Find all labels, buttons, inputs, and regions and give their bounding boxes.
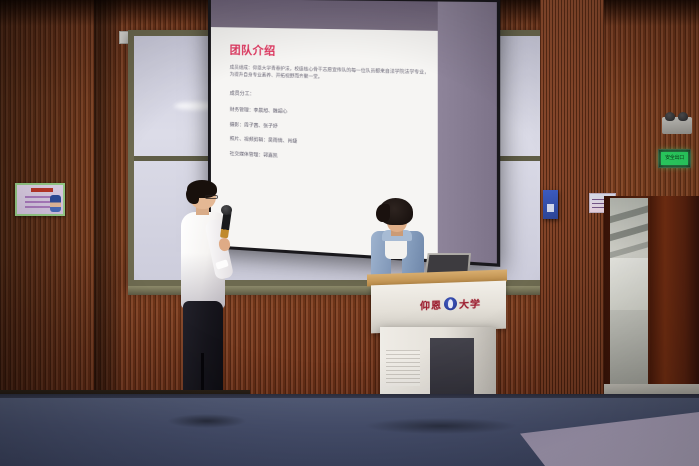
eyeglasses-icon bbox=[205, 195, 218, 199]
poster-title-bar bbox=[31, 188, 53, 192]
slide-role-item: 社交媒体管理：郭嘉凯 bbox=[230, 150, 429, 166]
slide-title: 团队介绍 bbox=[230, 41, 429, 62]
slide-role-item: 财务管理：李晨旭、魏韶心 bbox=[230, 106, 429, 120]
university-name-left: 仰恩 bbox=[420, 296, 442, 312]
university-emblem-icon bbox=[444, 297, 457, 310]
left-poster bbox=[15, 183, 65, 216]
stair-tread bbox=[610, 204, 648, 224]
exit-sign-label: 安全出口 bbox=[661, 152, 688, 165]
stair-tread bbox=[610, 222, 648, 242]
open-door-leaf[interactable] bbox=[650, 196, 699, 400]
slide-role-item: 摄影：周子茜、张子妤 bbox=[230, 121, 429, 136]
microphone-capsule-icon bbox=[221, 205, 232, 215]
podium-vent-grille bbox=[386, 350, 420, 386]
university-name-right: 大学 bbox=[459, 295, 481, 311]
standing-presenter bbox=[176, 183, 234, 423]
slide-paragraph: 成员组成：仰恩大学青春护法，校级核心骨干志愿宣传队的每一位队员都来自法学院法学专… bbox=[230, 64, 429, 84]
hair-front bbox=[376, 204, 390, 222]
stairwell-light bbox=[610, 258, 648, 310]
slide-role-item: 照片、视频剪辑：吴雨情、肖婕 bbox=[230, 135, 429, 150]
podium-shadow bbox=[366, 418, 516, 434]
poster-character-graphic bbox=[50, 195, 61, 212]
poster-text-lines bbox=[25, 196, 53, 210]
exit-sign: 安全出口 bbox=[658, 149, 691, 168]
blue-wall-box bbox=[543, 190, 558, 219]
slide-subheading: 成员分工： bbox=[230, 90, 429, 103]
hand bbox=[218, 237, 231, 252]
projection-screen: 团队介绍 成员组成：仰恩大学青春护法，校级核心骨干志愿宣传队的每一位队员都来自法… bbox=[208, 0, 500, 267]
stairwell-opening bbox=[610, 198, 648, 384]
podium-university-logo: 仰恩 大学 bbox=[420, 293, 496, 314]
presenter-shadow bbox=[168, 414, 246, 428]
stair-tread bbox=[610, 240, 648, 259]
slide-right-band bbox=[438, 1, 497, 263]
presentation-slide: 团队介绍 成员组成：仰恩大学青春护法，校级核心骨干志愿宣传队的每一位队员都来自法… bbox=[211, 0, 497, 263]
lecture-hall-scene: 安全出口 团队介绍 成员组成：仰恩大学青春护法，校级核心骨干志愿宣传队的每一位队… bbox=[0, 0, 699, 466]
hair-back bbox=[186, 187, 199, 204]
emergency-light-icon bbox=[662, 117, 692, 134]
